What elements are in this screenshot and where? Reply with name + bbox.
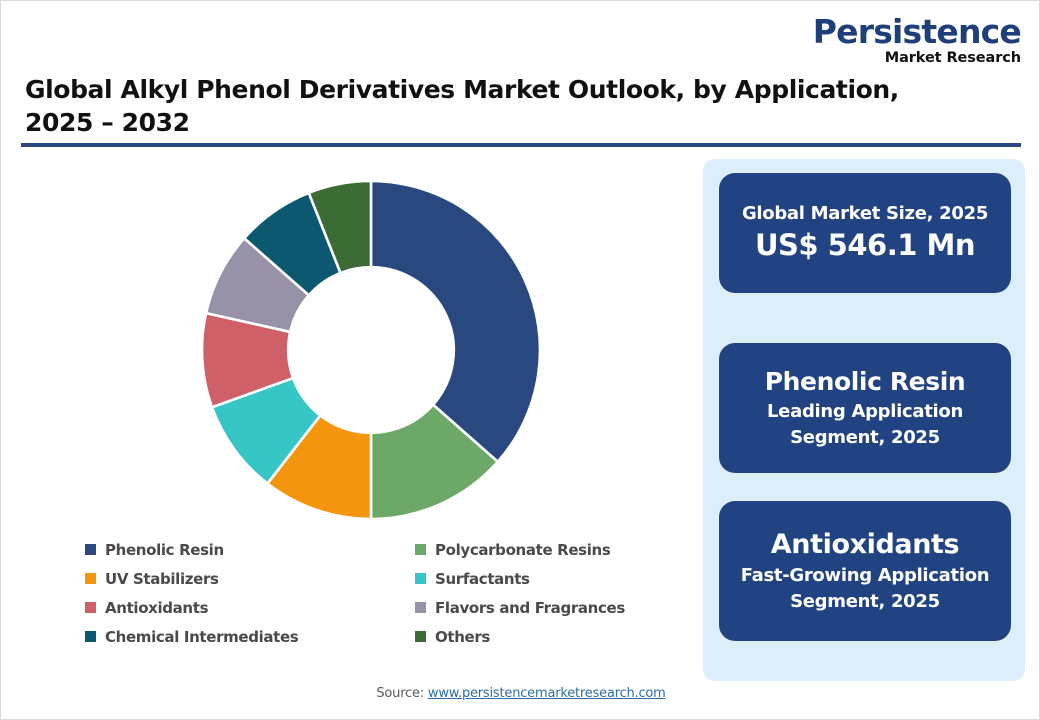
source-label: Source: [376,686,428,701]
logo-brand-text: Persistence [813,15,1021,48]
market-size-value: US$ 546.1 Mn [755,228,975,263]
logo-subtitle: Market Research [813,51,1021,66]
legend-label: UV Stabilizers [105,570,219,588]
chart-area [21,153,681,553]
legend-item: Chemical Intermediates [85,628,415,646]
fast-growing-segment-caption-line2: Segment, 2025 [790,591,940,612]
legend-swatch-icon [415,544,426,555]
legend-item: Flavors and Fragrances [415,599,665,617]
fast-growing-segment-caption-line1: Fast-Growing Application [741,565,990,586]
legend-item: Phenolic Resin [85,541,415,559]
legend-swatch-icon [85,631,96,642]
legend-label: Flavors and Fragrances [435,599,625,617]
highlights-panel: Global Market Size, 2025 US$ 546.1 Mn Ph… [703,159,1025,681]
legend-item: Antioxidants [85,599,415,617]
fast-growing-segment-name: Antioxidants [771,528,959,562]
highlight-card-market-size: Global Market Size, 2025 US$ 546.1 Mn [719,173,1011,293]
title-divider [21,143,1021,147]
legend-item: Polycarbonate Resins [415,541,665,559]
highlight-card-fast-growing-segment: Antioxidants Fast-Growing Application Se… [719,501,1011,641]
legend-label: Antioxidants [105,599,208,617]
legend-label: Others [435,628,490,646]
market-size-label: Global Market Size, 2025 [742,203,988,226]
legend-swatch-icon [85,573,96,584]
donut-chart [202,181,540,519]
legend-label: Polycarbonate Resins [435,541,610,559]
legend-label: Surfactants [435,570,530,588]
highlight-card-leading-segment: Phenolic Resin Leading Application Segme… [719,343,1011,473]
legend-item: Others [415,628,665,646]
leading-segment-name: Phenolic Resin [765,366,966,397]
legend-item: UV Stabilizers [85,570,415,588]
chart-legend: Phenolic ResinPolycarbonate ResinsUV Sta… [85,535,665,651]
company-logo: Persistence Market Research [813,15,1021,66]
leading-segment-caption: Leading Application Segment, 2025 [767,399,963,450]
donut-slice [371,181,540,462]
fast-growing-segment-caption: Fast-Growing Application Segment, 2025 [741,563,990,614]
legend-item: Surfactants [415,570,665,588]
leading-segment-caption-line1: Leading Application [767,401,963,422]
source-footer: Source: www.persistencemarketresearch.co… [1,686,1040,701]
infographic-page: Persistence Market Research Global Alkyl… [0,0,1040,720]
legend-swatch-icon [415,631,426,642]
source-link[interactable]: www.persistencemarketresearch.com [428,686,666,701]
legend-swatch-icon [85,544,96,555]
legend-swatch-icon [85,602,96,613]
legend-label: Phenolic Resin [105,541,224,559]
page-title: Global Alkyl Phenol Derivatives Market O… [25,73,905,139]
legend-swatch-icon [415,573,426,584]
legend-label: Chemical Intermediates [105,628,298,646]
legend-swatch-icon [415,602,426,613]
leading-segment-caption-line2: Segment, 2025 [790,427,940,448]
